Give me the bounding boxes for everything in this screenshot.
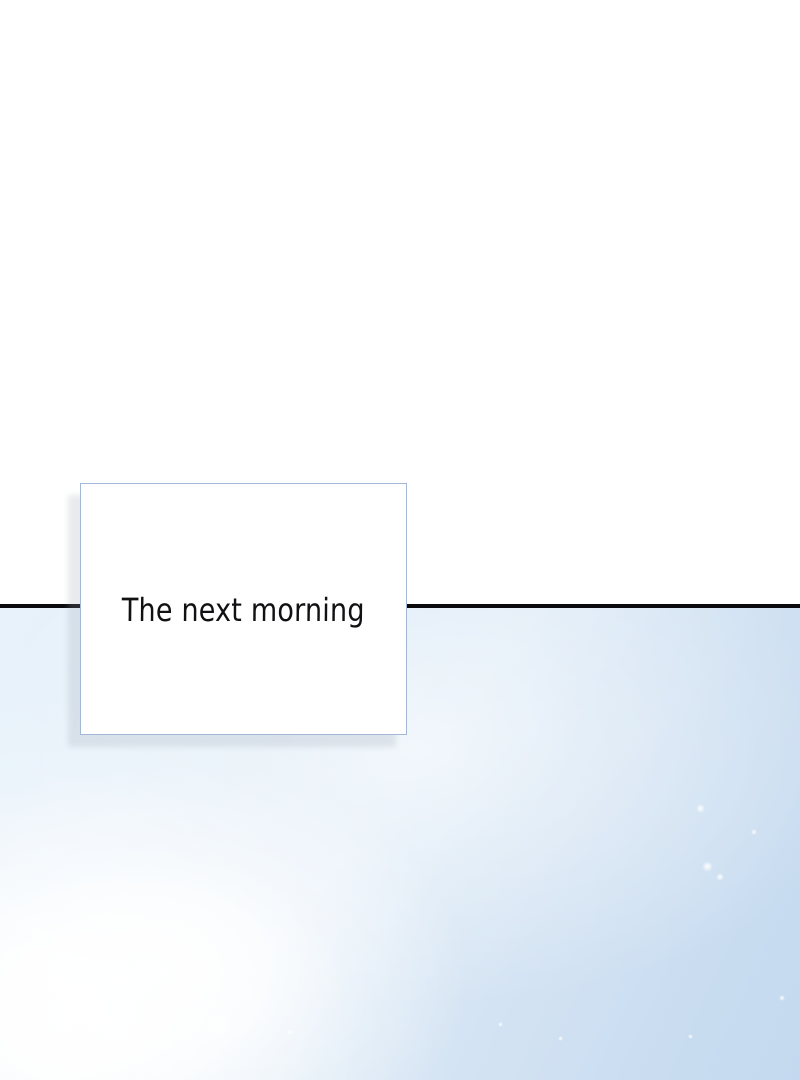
caption-text: The next morning xyxy=(122,593,365,628)
caption-box: The next morning xyxy=(80,483,407,735)
comic-panel: The next morning xyxy=(0,0,800,1080)
